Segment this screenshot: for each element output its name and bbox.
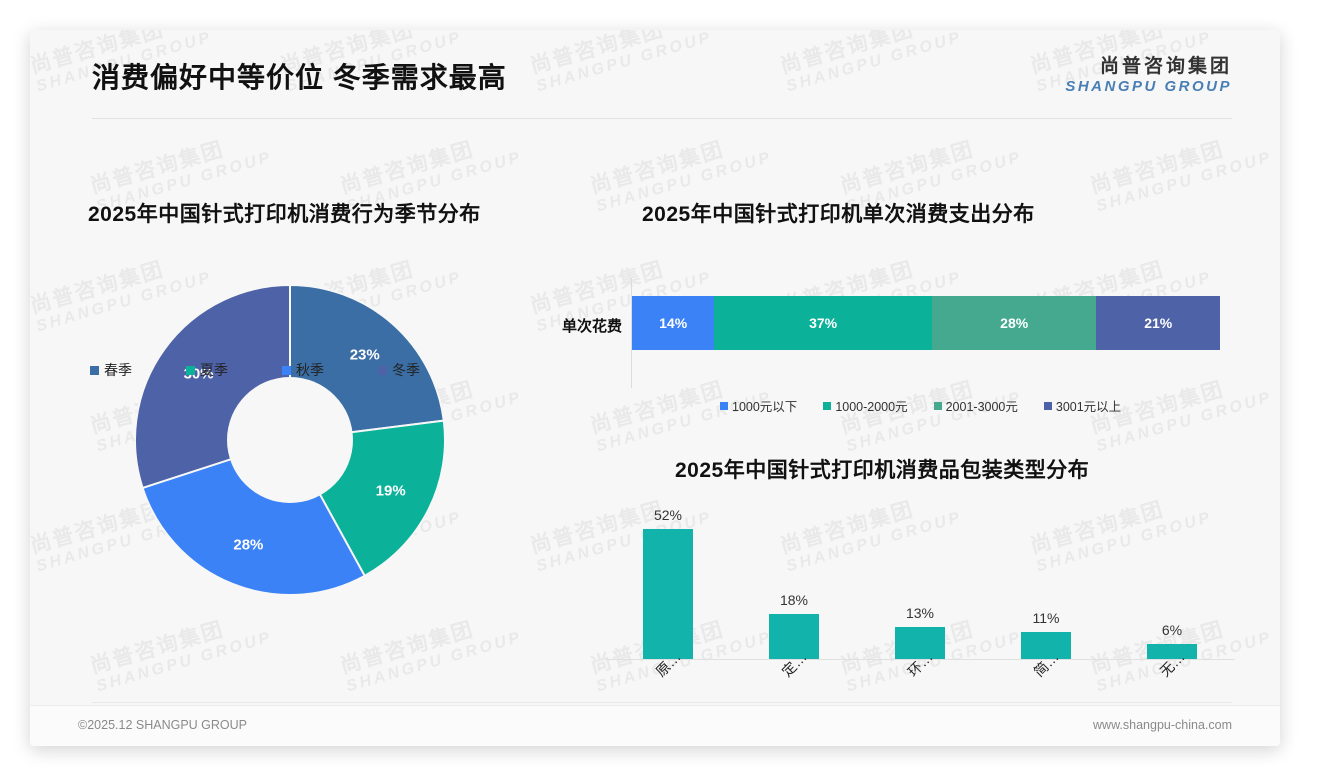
stacked-bar-segment[interactable]: 21%: [1096, 296, 1219, 350]
logo-text-en: SHANGPU GROUP: [1065, 78, 1232, 95]
stacked-bar-legend-item[interactable]: 2001-3000元: [934, 396, 1018, 415]
stacked-bar-segment[interactable]: 37%: [714, 296, 932, 350]
column-bar[interactable]: [643, 529, 693, 659]
stacked-bar-legend: 1000元以下1000-2000元2001-3000元3001元以上: [720, 396, 1121, 415]
donut-legend: 春季夏季秋季冬季: [90, 360, 420, 380]
website-link[interactable]: www.shangpu-china.com: [1093, 718, 1232, 732]
donut-chart: 23%19%28%30%: [135, 285, 475, 625]
stacked-bar-track: 14%37%28%21%: [632, 296, 1220, 350]
watermark-text: 尚普咨询集团SHANGPU GROUP: [1088, 126, 1274, 216]
legend-swatch: [934, 402, 942, 410]
legend-label: 1000-2000元: [835, 396, 907, 415]
donut-legend-item[interactable]: 秋季: [282, 360, 324, 380]
slide-footer: ©2025.12 SHANGPU GROUP www.shangpu-china…: [30, 705, 1280, 746]
stacked-bar-legend-item[interactable]: 3001元以上: [1044, 396, 1121, 415]
donut-hole: [227, 377, 353, 503]
donut-slice-label: 19%: [376, 483, 406, 500]
column-slot: 6%: [1109, 514, 1235, 659]
column-value-label: 52%: [654, 507, 682, 523]
legend-label: 夏季: [200, 360, 228, 380]
column-slot: 52%: [605, 514, 731, 659]
header-divider: [92, 118, 1232, 119]
legend-swatch: [186, 366, 195, 375]
legend-label: 冬季: [392, 360, 420, 380]
legend-swatch: [823, 402, 831, 410]
watermark-text: 尚普咨询集团SHANGPU GROUP: [1278, 486, 1280, 576]
donut-chart-title: 2025年中国针式打印机消费行为季节分布: [88, 198, 481, 228]
copyright-text: ©2025.12 SHANGPU GROUP: [78, 718, 247, 732]
legend-swatch: [378, 366, 387, 375]
legend-label: 1000元以下: [732, 396, 797, 415]
column-slot: 11%: [983, 514, 1109, 659]
stacked-bar-chart: 单次花费 14%37%28%21% 1000元以下1000-2000元2001-…: [530, 278, 1230, 408]
donut-ring: 23%19%28%30%: [135, 285, 445, 595]
column-chart-title: 2025年中国针式打印机消费品包装类型分布: [675, 454, 1089, 484]
stacked-bar-segment[interactable]: 28%: [932, 296, 1097, 350]
legend-label: 3001元以上: [1056, 396, 1121, 415]
column-slot: 13%: [857, 514, 983, 659]
column-chart: 52%18%13%11%6% 原…定…环…简…无…: [600, 500, 1240, 715]
donut-legend-item[interactable]: 夏季: [186, 360, 228, 380]
column-value-label: 11%: [1033, 610, 1060, 626]
slide-card: 尚普咨询集团SHANGPU GROUP尚普咨询集团SHANGPU GROUP尚普…: [30, 30, 1280, 746]
column-slot: 18%: [731, 514, 857, 659]
footnote-divider: [92, 702, 1232, 703]
brand-logo: 尚普咨询集团 SHANGPU GROUP: [1065, 56, 1232, 95]
page-title: 消费偏好中等价位 冬季需求最高: [92, 56, 507, 96]
stacked-bar-segment[interactable]: 14%: [632, 296, 714, 350]
stacked-bar-legend-item[interactable]: 1000元以下: [720, 396, 797, 415]
slide-header: 消费偏好中等价位 冬季需求最高 尚普咨询集团 SHANGPU GROUP: [30, 30, 1280, 118]
legend-swatch: [720, 402, 728, 410]
column-value-label: 18%: [780, 592, 808, 608]
watermark-text: 尚普咨询集团SHANGPU GROUP: [1278, 246, 1280, 336]
column-value-label: 13%: [906, 605, 934, 621]
legend-label: 秋季: [296, 360, 324, 380]
legend-swatch: [90, 366, 99, 375]
column-bars: 52%18%13%11%6%: [605, 514, 1235, 659]
legend-label: 春季: [104, 360, 132, 380]
column-value-label: 6%: [1162, 622, 1182, 638]
stacked-bar-legend-item[interactable]: 1000-2000元: [823, 396, 907, 415]
donut-legend-item[interactable]: 冬季: [378, 360, 420, 380]
legend-label: 2001-3000元: [946, 396, 1018, 415]
stacked-bar-chart-title: 2025年中国针式打印机单次消费支出分布: [642, 198, 1035, 228]
legend-swatch: [282, 366, 291, 375]
donut-legend-item[interactable]: 春季: [90, 360, 132, 380]
logo-text-cn: 尚普咨询集团: [1065, 56, 1232, 78]
stacked-bar-category-label: 单次花费: [530, 315, 622, 336]
donut-slice-label: 28%: [233, 537, 263, 554]
legend-swatch: [1044, 402, 1052, 410]
